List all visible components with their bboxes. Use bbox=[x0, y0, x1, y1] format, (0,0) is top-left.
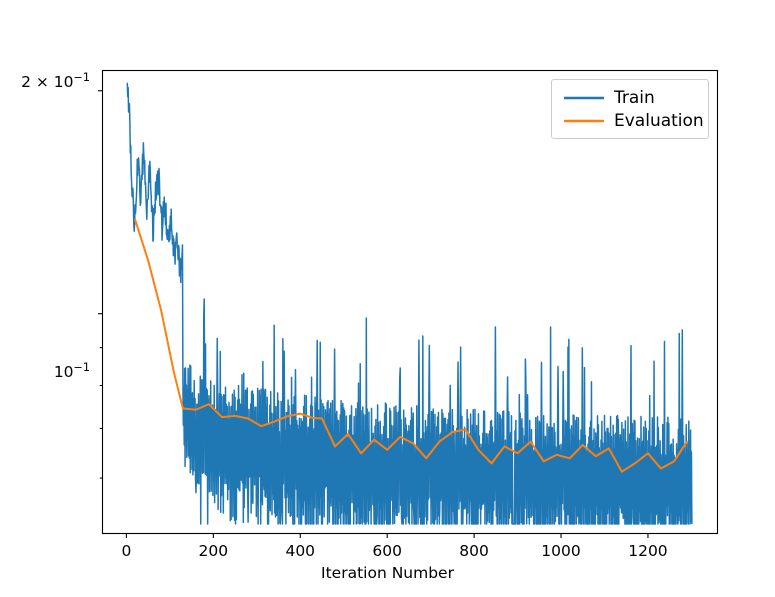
ytick-label-1e-1: 10−1 bbox=[4, 361, 90, 381]
x-axis-label: Iteration Number bbox=[0, 564, 775, 582]
legend-label-evaluation: Evaluation bbox=[614, 111, 704, 131]
xtick-label-400: 400 bbox=[260, 542, 340, 560]
figure-canvas: 2 × 10−1 10−1 020040060080010001200 Iter… bbox=[0, 0, 775, 597]
xtick-label-800: 800 bbox=[434, 542, 514, 560]
xtick-label-0: 0 bbox=[86, 542, 166, 560]
ytick-label-2e-1: 2 × 10−1 bbox=[4, 71, 90, 91]
legend-label-train: Train bbox=[614, 88, 655, 108]
xtick-label-200: 200 bbox=[173, 542, 253, 560]
xtick-label-1000: 1000 bbox=[521, 542, 601, 560]
xtick-label-600: 600 bbox=[347, 542, 427, 560]
chart-legend[interactable]: Train Evaluation bbox=[551, 79, 709, 139]
xtick-label-1200: 1200 bbox=[608, 542, 688, 560]
